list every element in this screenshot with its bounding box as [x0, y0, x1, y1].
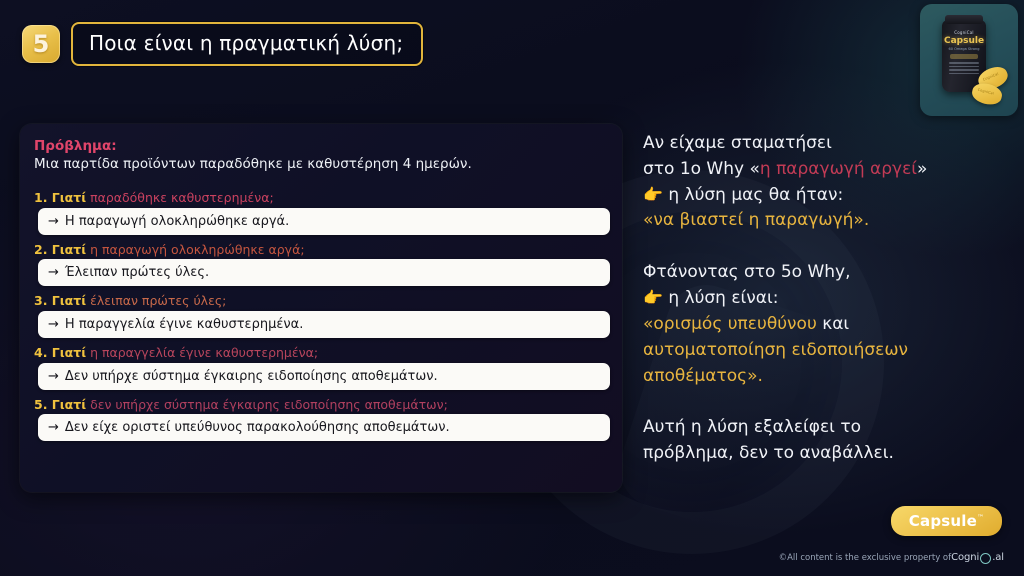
step-number-badge: 5	[22, 25, 60, 63]
why-answer-1: → Η παραγωγή ολοκληρώθηκε αργά.	[38, 208, 610, 235]
commentary-line: αυτοματοποίηση ειδοποιήσεων	[643, 338, 1003, 364]
copyright-brand-suffix: .al	[992, 552, 1004, 563]
why-answer-text-2: Έλειπαν πρώτες ύλες.	[65, 266, 209, 279]
bottle-pill-banner	[950, 54, 978, 59]
slide-root: 5 Ποια είναι η πραγματική λύση; CogniCal…	[0, 0, 1024, 576]
why-number-5: 5. Γιατί	[34, 397, 86, 412]
bottle-brand-label: CogniCal	[946, 30, 982, 35]
commentary-line: «ορισμός υπευθύνου και	[643, 312, 1003, 338]
arrow-icon: →	[48, 215, 59, 228]
why-text-3: έλειπαν πρώτες ύλες;	[90, 293, 226, 308]
capsule-brand-label: Capsule	[909, 512, 977, 530]
capsule-brand-badge: Capsule™	[891, 506, 1002, 536]
why-question-2: 2. Γιατί η παραγωγή ολοκληρώθηκε αργά;	[34, 242, 610, 258]
why-answer-text-1: Η παραγωγή ολοκληρώθηκε αργά.	[65, 215, 289, 228]
commentary-line: αποθέματος».	[643, 364, 1003, 390]
commentary-line: πρόβλημα, δεν το αναβάλλει.	[643, 441, 1003, 467]
why-text-4: η παραγγελία έγινε καθυστερημένα;	[90, 345, 318, 360]
slide-header: 5 Ποια είναι η πραγματική λύση;	[22, 22, 423, 66]
why-answer-5: → Δεν είχε οριστεί υπεύθυνος παρακολούθη…	[38, 414, 610, 441]
commentary-line: 👉 η λύση είναι:	[643, 286, 1003, 312]
why-answer-text-5: Δεν είχε οριστεί υπεύθυνος παρακολούθηση…	[65, 421, 450, 434]
commentary-text: και	[817, 314, 849, 334]
arrow-icon: →	[48, 266, 59, 279]
commentary-highlight-gold: «να βιαστεί η παραγωγή».	[643, 210, 869, 230]
why-number-3: 3. Γιατί	[34, 293, 86, 308]
arrow-icon: →	[48, 318, 59, 331]
commentary-line: «να βιαστεί η παραγωγή».	[643, 208, 1003, 234]
commentary-text: στο 1ο Why «	[643, 159, 760, 179]
commentary-block-3: Αυτή η λύση εξαλείφει το πρόβλημα, δεν τ…	[643, 415, 1003, 467]
commentary-line: στο 1ο Why «η παραγωγή αργεί»	[643, 157, 1003, 183]
why-answer-text-3: Η παραγγελία έγινε καθυστερημένα.	[65, 318, 303, 331]
commentary-line: Αν είχαμε σταματήσει	[643, 131, 1003, 157]
spacer	[32, 174, 610, 190]
pointing-hand-icon: 👉	[643, 288, 663, 307]
pill-label-upper: CogniCal	[982, 72, 999, 82]
commentary-block-1: Αν είχαμε σταματήσει στο 1ο Why «η παραγ…	[643, 131, 1003, 234]
commentary-text: »	[917, 159, 927, 179]
commentary-text: η λύση μας θα ήταν:	[668, 185, 843, 205]
why-question-1: 1. Γιατί παραδόθηκε καθυστερημένα;	[34, 190, 610, 206]
five-whys-card: Πρόβλημα: Μια παρτίδα προϊόντων παραδόθη…	[20, 124, 622, 492]
bottle-product-name: Capsule	[944, 36, 984, 46]
slide-title-box: Ποια είναι η πραγματική λύση;	[71, 22, 423, 66]
pointing-hand-icon: 👉	[643, 185, 663, 204]
why-answer-4: → Δεν υπήρχε σύστημα έγκαιρης ειδοποίηση…	[38, 363, 610, 390]
why-number-1: 1. Γιατί	[34, 190, 86, 205]
product-bottle-image: CogniCal Capsule 60 Omega Strong CogniCa…	[920, 4, 1018, 116]
why-question-4: 4. Γιατί η παραγγελία έγινε καθυστερημέν…	[34, 345, 610, 361]
copyright-notice: ©All content is the exclusive property o…	[779, 552, 1004, 563]
why-text-5: δεν υπήρχε σύστημα έγκαιρης ειδοποίησης …	[90, 397, 448, 412]
why-number-2: 2. Γιατί	[34, 242, 86, 257]
why-text-2: η παραγωγή ολοκληρώθηκε αργά;	[90, 242, 304, 257]
page-title: Ποια είναι η πραγματική λύση;	[89, 31, 403, 55]
why-answer-3: → Η παραγγελία έγινε καθυστερημένα.	[38, 311, 610, 338]
bottle-subtitle: 60 Omega Strong	[944, 47, 984, 51]
copyright-text: ©All content is the exclusive property o…	[779, 553, 952, 563]
commentary-highlight-gold: «ορισμός υπευθύνου	[643, 314, 817, 334]
commentary-text: η λύση είναι:	[668, 288, 778, 308]
commentary-line: Αυτή η λύση εξαλείφει το	[643, 415, 1003, 441]
commentary-highlight-gold: αποθέματος».	[643, 366, 763, 386]
commentary-highlight-red: η παραγωγή αργεί	[760, 159, 917, 179]
copyright-brand-prefix: Cogni	[951, 552, 979, 563]
commentary-line: 👉 η λύση μας θα ήταν:	[643, 183, 1003, 209]
why-number-4: 4. Γιατί	[34, 345, 86, 360]
arrow-icon: →	[48, 421, 59, 434]
why-question-5: 5. Γιατί δεν υπήρχε σύστημα έγκαιρης ειδ…	[34, 397, 610, 413]
why-answer-2: → Έλειπαν πρώτες ύλες.	[38, 259, 610, 286]
commentary-line: Φτάνοντας στο 5ο Why,	[643, 260, 1003, 286]
bottle-text-lines	[949, 62, 979, 76]
trademark-symbol: ™	[977, 514, 984, 522]
bottle-cap	[945, 15, 983, 24]
why-answer-text-4: Δεν υπήρχε σύστημα έγκαιρης ειδοποίησης …	[65, 370, 438, 383]
arrow-icon: →	[48, 370, 59, 383]
commentary-highlight-gold: αυτοματοποίηση ειδοποιήσεων	[643, 340, 908, 360]
pill-label-lower: CogniCal	[977, 88, 994, 96]
commentary-block-2: Φτάνοντας στο 5ο Why, 👉 η λύση είναι: «ο…	[643, 260, 1003, 389]
commentary-column: Αν είχαμε σταματήσει στο 1ο Why «η παραγ…	[643, 131, 1003, 467]
problem-statement: Μια παρτίδα προϊόντων παραδόθηκε με καθυ…	[34, 156, 610, 172]
why-text-1: παραδόθηκε καθυστερημένα;	[90, 190, 274, 205]
problem-label: Πρόβλημα:	[34, 138, 610, 154]
why-question-3: 3. Γιατί έλειπαν πρώτες ύλες;	[34, 293, 610, 309]
globe-icon	[980, 553, 991, 564]
